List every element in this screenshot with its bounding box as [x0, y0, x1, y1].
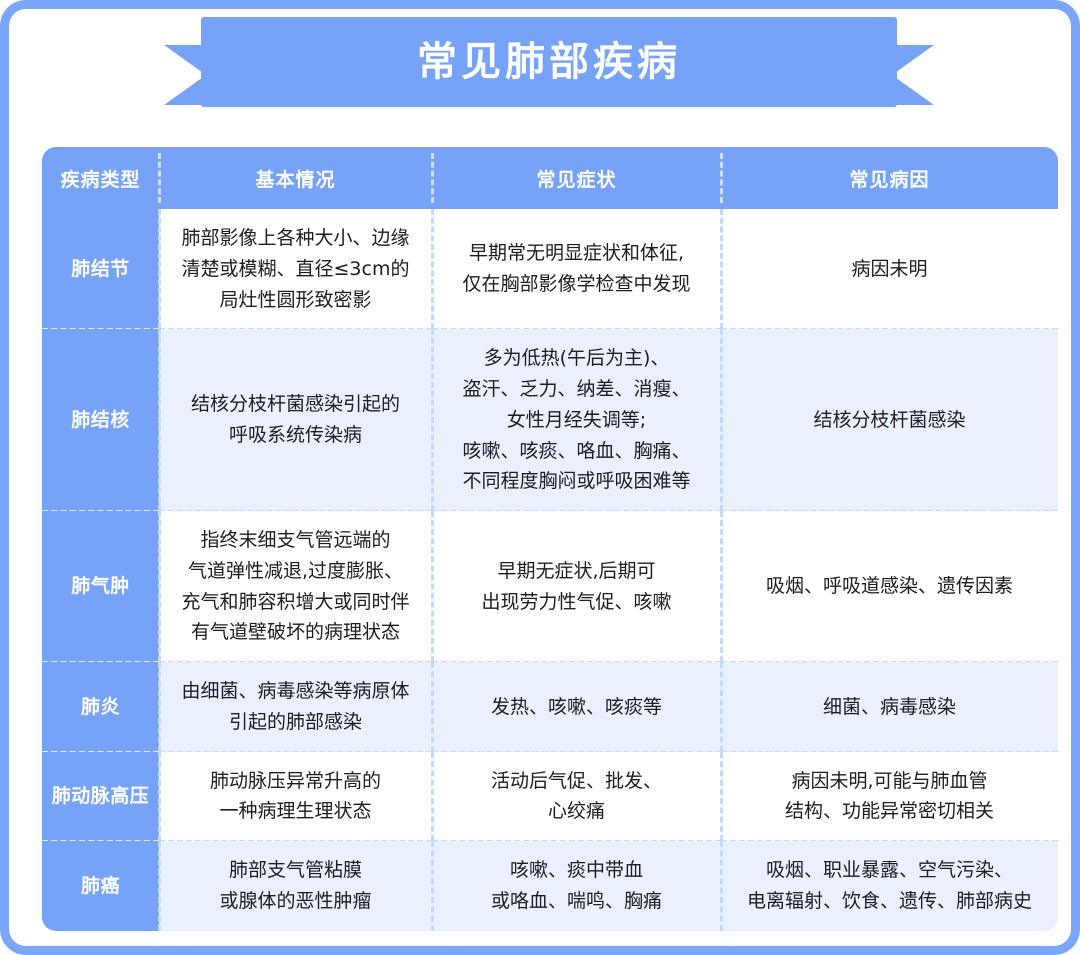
cell-line: 盗汗、乏力、纳差、消瘦、	[444, 374, 709, 405]
column-header-causes: 常见病因	[721, 147, 1058, 209]
table-row: 肺炎由细菌、病毒感染等病原体引起的肺部感染发热、咳嗽、咳痰等细菌、病毒感染	[42, 662, 1058, 752]
cell-line: 早期常无明显症状和体征,	[444, 238, 709, 269]
cell-disease-type: 肺气肿	[42, 511, 159, 662]
cell-line: 仅在胸部影像学检查中发现	[444, 269, 709, 300]
column-header-overview: 基本情况	[159, 147, 432, 209]
cell-symptoms: 早期常无明显症状和体征,仅在胸部影像学检查中发现	[432, 209, 721, 329]
cell-line: 咳嗽、痰中带血	[444, 855, 709, 886]
cell-symptoms: 早期无症状,后期可出现劳力性气促、咳嗽	[432, 511, 721, 662]
cell-overview: 由细菌、病毒感染等病原体引起的肺部感染	[159, 662, 432, 752]
disease-table: 疾病类型 基本情况 常见症状 常见病因 肺结节肺部影像上各种大小、边缘清楚或模糊…	[42, 147, 1058, 931]
cell-causes: 结核分枝杆菌感染	[721, 329, 1058, 511]
cell-overview: 结核分枝杆菌感染引起的呼吸系统传染病	[159, 329, 432, 511]
table-row: 肺癌肺部支气管粘膜或腺体的恶性肿瘤咳嗽、痰中带血或咯血、喘鸣、胸痛吸烟、职业暴露…	[42, 841, 1058, 931]
table-head: 疾病类型 基本情况 常见症状 常见病因	[42, 147, 1058, 209]
page-title: 常见肺部疾病	[417, 42, 681, 82]
cell-line: 病因未明,可能与肺血管	[733, 766, 1046, 797]
table-header-row: 疾病类型 基本情况 常见症状 常见病因	[42, 147, 1058, 209]
disease-table-container: 疾病类型 基本情况 常见症状 常见病因 肺结节肺部影像上各种大小、边缘清楚或模糊…	[42, 147, 1058, 931]
cell-line: 心绞痛	[444, 796, 709, 827]
cell-line: 细菌、病毒感染	[733, 692, 1046, 723]
cell-symptoms: 咳嗽、痰中带血或咯血、喘鸣、胸痛	[432, 841, 721, 931]
cell-causes: 病因未明,可能与肺血管结构、功能异常密切相关	[721, 752, 1058, 842]
cell-line: 发热、咳嗽、咳痰等	[444, 692, 709, 723]
cell-line: 病因未明	[733, 254, 1046, 285]
cell-line: 局灶性圆形致密影	[171, 285, 420, 316]
cell-disease-type: 肺结节	[42, 209, 159, 329]
cell-line: 一种病理生理状态	[171, 796, 420, 827]
cell-causes: 细菌、病毒感染	[721, 662, 1058, 752]
cell-line: 活动后气促、批发、	[444, 766, 709, 797]
title-banner: 常见肺部疾病	[9, 17, 1080, 117]
cell-line: 咳嗽、咳痰、咯血、胸痛、	[444, 436, 709, 467]
column-header-symptoms: 常见症状	[432, 147, 721, 209]
cell-disease-type: 肺癌	[42, 841, 159, 931]
cell-disease-type: 肺动脉高压	[42, 752, 159, 842]
cell-symptoms: 活动后气促、批发、心绞痛	[432, 752, 721, 842]
cell-line: 呼吸系统传染病	[171, 420, 420, 451]
table-row: 肺结核结核分枝杆菌感染引起的呼吸系统传染病多为低热(午后为主)、盗汗、乏力、纳差…	[42, 329, 1058, 511]
page-frame: 常见肺部疾病 shenlanbao.com中立 | 专业 | 诚信shenlan…	[0, 0, 1080, 955]
table-row: 肺气肿指终末细支气管远端的气道弹性减退,过度膨胀、充气和肺容积增大或同时伴有气道…	[42, 511, 1058, 662]
cell-line: 吸烟、呼吸道感染、遗传因素	[733, 571, 1046, 602]
cell-line: 有气道壁破坏的病理状态	[171, 617, 420, 648]
table-row: 肺动脉高压肺动脉压异常升高的一种病理生理状态活动后气促、批发、心绞痛病因未明,可…	[42, 752, 1058, 842]
cell-symptoms: 发热、咳嗽、咳痰等	[432, 662, 721, 752]
cell-line: 由细菌、病毒感染等病原体	[171, 676, 420, 707]
cell-line: 多为低热(午后为主)、	[444, 343, 709, 374]
cell-line: 不同程度胸闷或呼吸困难等	[444, 466, 709, 497]
table-row: 肺结节肺部影像上各种大小、边缘清楚或模糊、直径≤3cm的局灶性圆形致密影早期常无…	[42, 209, 1058, 329]
cell-line: 气道弹性减退,过度膨胀、	[171, 556, 420, 587]
cell-disease-type: 肺炎	[42, 662, 159, 752]
cell-line: 早期无症状,后期可	[444, 556, 709, 587]
cell-overview: 肺部支气管粘膜或腺体的恶性肿瘤	[159, 841, 432, 931]
cell-causes: 吸烟、职业暴露、空气污染、电离辐射、饮食、遗传、肺部病史	[721, 841, 1058, 931]
cell-line: 指终末细支气管远端的	[171, 525, 420, 556]
cell-line: 肺部支气管粘膜	[171, 855, 420, 886]
cell-line: 引起的肺部感染	[171, 707, 420, 738]
cell-line: 电离辐射、饮食、遗传、肺部病史	[733, 886, 1046, 917]
cell-overview: 指终末细支气管远端的气道弹性减退,过度膨胀、充气和肺容积增大或同时伴有气道壁破坏…	[159, 511, 432, 662]
cell-line: 或咯血、喘鸣、胸痛	[444, 886, 709, 917]
cell-line: 清楚或模糊、直径≤3cm的	[171, 254, 420, 285]
cell-causes: 病因未明	[721, 209, 1058, 329]
ribbon-body: 常见肺部疾病	[201, 17, 897, 107]
cell-line: 吸烟、职业暴露、空气污染、	[733, 855, 1046, 886]
cell-line: 出现劳力性气促、咳嗽	[444, 587, 709, 618]
cell-line: 肺动脉压异常升高的	[171, 766, 420, 797]
cell-line: 充气和肺容积增大或同时伴	[171, 587, 420, 618]
cell-line: 或腺体的恶性肿瘤	[171, 886, 420, 917]
cell-symptoms: 多为低热(午后为主)、盗汗、乏力、纳差、消瘦、女性月经失调等;咳嗽、咳痰、咯血、…	[432, 329, 721, 511]
table-body: 肺结节肺部影像上各种大小、边缘清楚或模糊、直径≤3cm的局灶性圆形致密影早期常无…	[42, 209, 1058, 931]
cell-line: 肺部影像上各种大小、边缘	[171, 223, 420, 254]
cell-line: 女性月经失调等;	[444, 405, 709, 436]
cell-line: 结核分枝杆菌感染	[733, 405, 1046, 436]
cell-overview: 肺动脉压异常升高的一种病理生理状态	[159, 752, 432, 842]
cell-line: 结核分枝杆菌感染引起的	[171, 389, 420, 420]
cell-overview: 肺部影像上各种大小、边缘清楚或模糊、直径≤3cm的局灶性圆形致密影	[159, 209, 432, 329]
cell-disease-type: 肺结核	[42, 329, 159, 511]
cell-line: 结构、功能异常密切相关	[733, 796, 1046, 827]
cell-causes: 吸烟、呼吸道感染、遗传因素	[721, 511, 1058, 662]
column-header-disease-type: 疾病类型	[42, 147, 159, 209]
